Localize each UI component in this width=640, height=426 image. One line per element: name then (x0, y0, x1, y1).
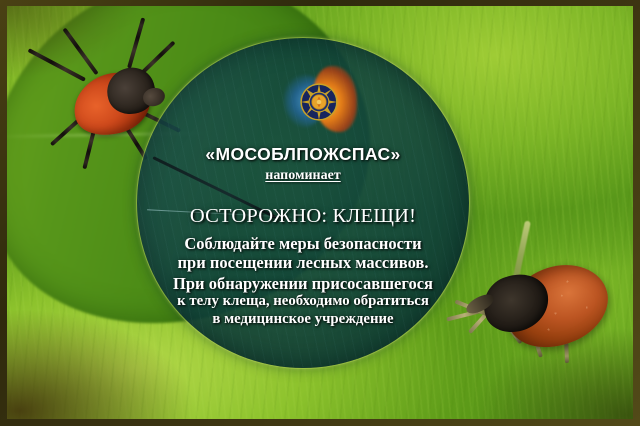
headline-warning: ОСТОРОЖНО: КЛЕЩИ! (137, 205, 469, 228)
advice-line: к телу клеща, необходимо обратиться (141, 293, 465, 310)
photo-background: «МОСОБЛПОЖСПАС» напоминает ОСТОРОЖНО: КЛ… (7, 6, 633, 419)
organization-subtitle: напоминает (137, 168, 469, 184)
overlay-text-block: «МОСОБЛПОЖСПАС» напоминает ОСТОРОЖНО: КЛ… (137, 38, 469, 368)
poster-image: «МОСОБЛПОЖСПАС» напоминает ОСТОРОЖНО: КЛ… (0, 0, 640, 426)
advice-paragraph-2: При обнаружении присосавшегося к телу кл… (141, 274, 465, 328)
advice-line: при посещении лесных массивов. (141, 253, 465, 272)
organization-name: «МОСОБЛПОЖСПАС» (137, 144, 469, 165)
tick-leg (28, 48, 86, 82)
advice-line: При обнаружении присосавшегося (141, 274, 465, 293)
advice-paragraph-1: Соблюдайте меры безопасности при посещен… (141, 234, 465, 273)
advice-line: Соблюдайте меры безопасности (141, 234, 465, 253)
advice-line: в медицинское учреждение (141, 311, 465, 328)
